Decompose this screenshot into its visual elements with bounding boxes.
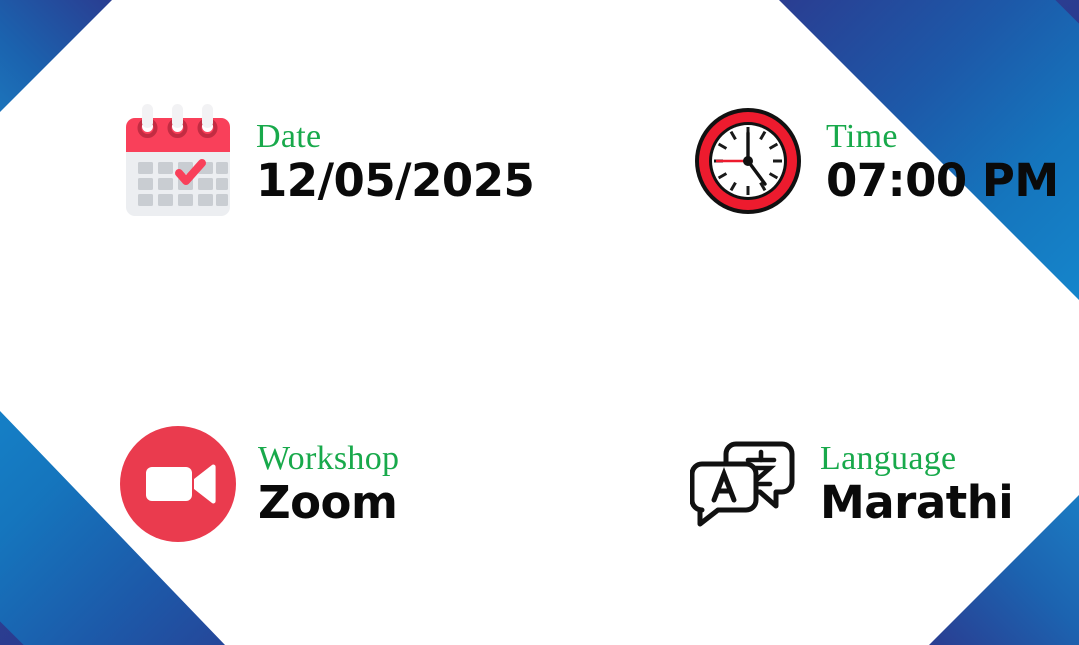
translate-speech-bubbles-icon: [690, 438, 798, 530]
clock-icon: [692, 105, 804, 217]
time-value: 07:00 PM: [826, 158, 1059, 203]
language-value: Marathi: [820, 480, 1013, 525]
language-label: Language: [820, 442, 1013, 476]
info-grid: Date 12/05/2025: [0, 0, 1079, 645]
time-label: Time: [826, 120, 1059, 154]
event-info-card: Date 12/05/2025: [0, 0, 1079, 645]
time-text-block: Time 07:00 PM: [826, 120, 1059, 203]
info-item-time: Time 07:00 PM: [0, 0, 1079, 322]
language-text-block: Language Marathi: [820, 442, 1013, 525]
info-item-language: Language Marathi: [0, 322, 1079, 645]
